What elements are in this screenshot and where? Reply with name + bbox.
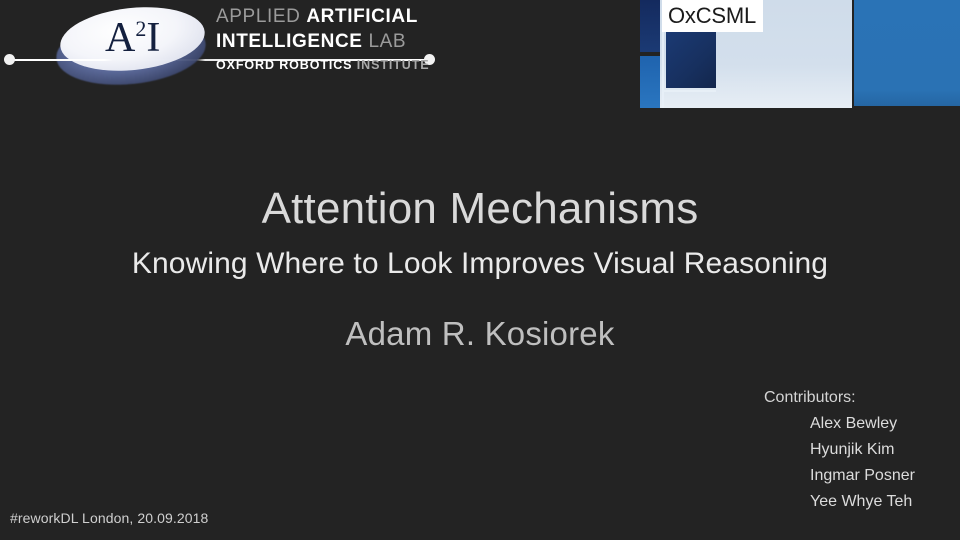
contributor-name: Hyunjik Kim	[700, 437, 940, 463]
a2i-text-lab: LAB	[368, 31, 406, 52]
oxcsml-label: OxCSML	[662, 0, 763, 32]
oxcsml-blue-column	[640, 56, 660, 108]
a2i-text-institute: INSTITUTE	[357, 58, 430, 72]
oxcsml-blue-panel	[854, 0, 960, 106]
oxcsml-logo: OxCSML	[636, 0, 960, 110]
contributors-heading: Contributors:	[700, 385, 940, 411]
a2i-text-oxford-robotics: OXFORD ROBOTICS	[216, 58, 352, 72]
contributor-name: Ingmar Posner	[700, 463, 940, 489]
presentation-slide: A2I APPLIED ARTIFICIAL INTELLIGENCE LAB …	[0, 0, 960, 540]
a2i-lab-logo: A2I APPLIED ARTIFICIAL INTELLIGENCE LAB …	[0, 0, 480, 110]
a2i-monogram-a: A	[105, 15, 135, 61]
a2i-text-intelligence: INTELLIGENCE	[216, 31, 363, 52]
oxcsml-navy-column	[640, 0, 660, 52]
slide-title: Attention Mechanisms	[0, 182, 960, 236]
a2i-logo-line-1: APPLIED ARTIFICIAL	[216, 4, 466, 29]
a2i-dot-left	[4, 54, 15, 65]
contributors-block: Contributors: Alex Bewley Hyunjik Kim In…	[700, 385, 940, 515]
a2i-text-applied: APPLIED	[216, 6, 300, 27]
slide-author: Adam R. Kosiorek	[0, 312, 960, 356]
a2i-logo-line-3: OXFORD ROBOTICS INSTITUTE	[216, 54, 428, 76]
slide-footer: #reworkDL London, 20.09.2018	[10, 508, 208, 528]
contributor-name: Yee Whye Teh	[700, 489, 940, 515]
a2i-monogram-i: I	[146, 15, 160, 61]
slide-subtitle: Knowing Where to Look Improves Visual Re…	[0, 245, 960, 283]
oxcsml-horizontal-separator	[664, 90, 716, 92]
a2i-logo-text: APPLIED ARTIFICIAL INTELLIGENCE LAB OXFO…	[216, 4, 466, 76]
contributor-name: Alex Bewley	[700, 411, 940, 437]
a2i-text-artificial: ARTIFICIAL	[306, 6, 418, 27]
a2i-monogram-superscript: 2	[135, 16, 146, 41]
a2i-logo-line-2: INTELLIGENCE LAB	[216, 29, 466, 54]
oxcsml-navy-block	[666, 30, 716, 88]
